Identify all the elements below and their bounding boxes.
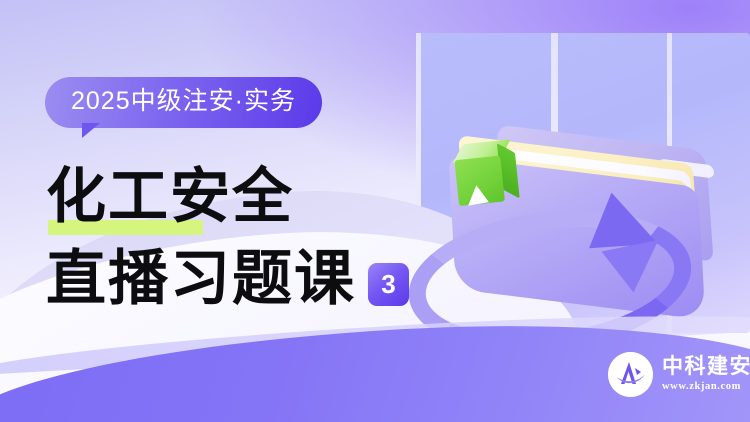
course-badge: 2025中级注安·实务 — [45, 77, 322, 128]
logo-company-name: 中科建安 — [662, 355, 750, 378]
title-line-2: 直播习题课 3 — [46, 242, 476, 316]
logo-website-url: www.zkjan.com — [662, 380, 750, 394]
course-banner: 2025中级注安·实务 化工安全 直播习题课 3 中科建安 www.zkjan.… — [0, 0, 750, 422]
brand-logo[interactable]: 中科建安 www.zkjan.com — [608, 352, 750, 397]
page-title: 化工安全 直播习题课 3 — [46, 160, 476, 316]
title-line-1-text: 化工安全 — [46, 162, 294, 232]
logo-text-block: 中科建安 www.zkjan.com — [662, 355, 750, 394]
badge-tail — [82, 123, 100, 138]
zkjan-logo-icon — [608, 352, 653, 397]
course-badge-label: 2025中级注安·实务 — [45, 77, 322, 128]
title-line-2-text: 直播习题课 — [46, 242, 356, 316]
title-line-1: 化工安全 — [46, 160, 476, 234]
episode-number-badge: 3 — [368, 263, 409, 306]
